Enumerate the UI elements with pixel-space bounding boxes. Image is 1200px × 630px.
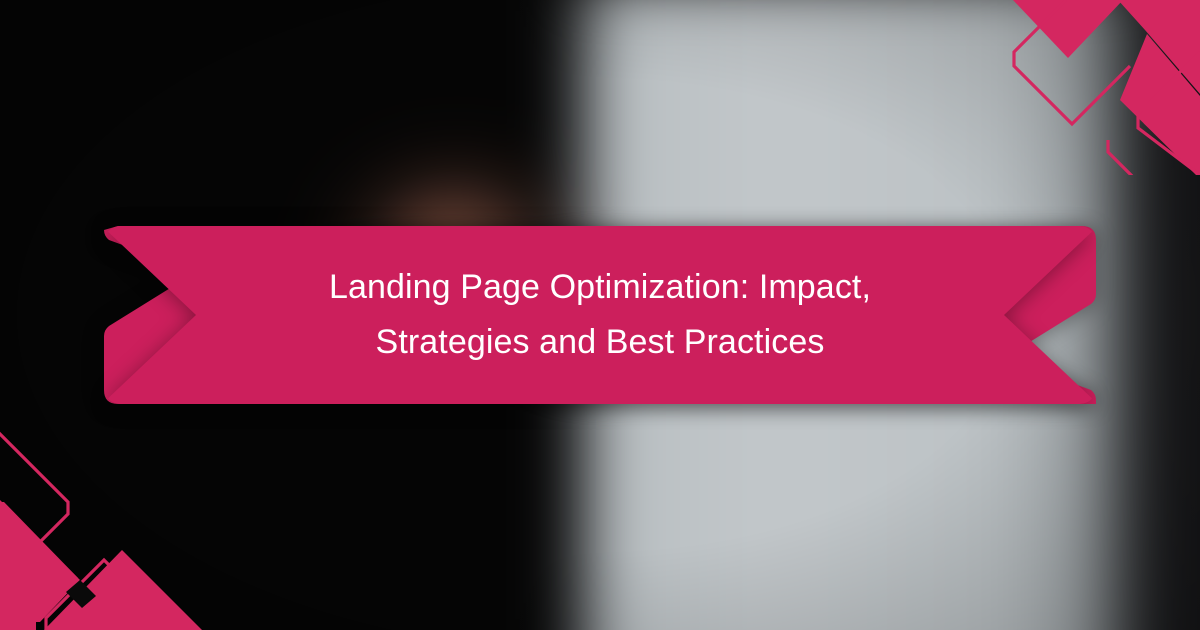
title-line-1: Landing Page Optimization: Impact, <box>329 263 871 312</box>
title-ribbon: Landing Page Optimization: Impact, Strat… <box>104 226 1096 404</box>
open-graph-card: Landing Page Optimization: Impact, Strat… <box>0 0 1200 630</box>
title-line-2: Strategies and Best Practices <box>376 318 825 367</box>
ribbon-title-block: Landing Page Optimization: Impact, Strat… <box>104 226 1096 404</box>
